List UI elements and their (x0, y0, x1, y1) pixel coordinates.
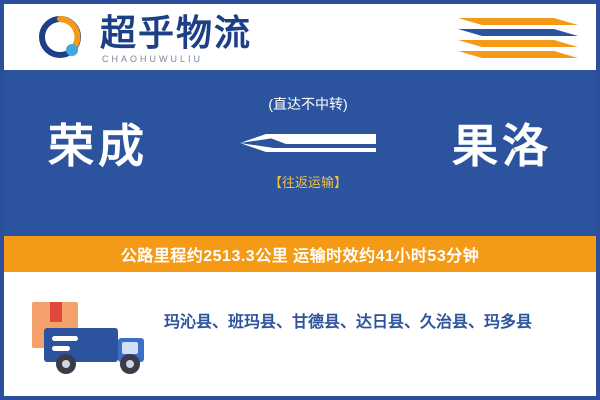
roundtrip-note: 【往返运输】 (240, 174, 376, 192)
circle-q-logo-icon (38, 16, 86, 64)
destination-city: 果洛 (452, 110, 552, 176)
route-middle: (直达不中转) 【往返运输】 (240, 94, 376, 214)
direct-note: (直达不中转) (240, 94, 376, 114)
route-panel: 荣成 (直达不中转) 【往返运输】 果洛 (4, 70, 596, 236)
header: 超乎物流 CHAOHUWULIU (4, 4, 596, 70)
distance-duration-text: 公路里程约2513.3公里 运输时效约41小时53分钟 (121, 242, 479, 266)
logistics-route-card: 超乎物流 CHAOHUWULIU 荣成 (直达不中转) (0, 0, 600, 400)
chevron-stripes-icon (458, 16, 578, 62)
delivery-truck-icon (30, 288, 160, 380)
info-bar: 公路里程约2513.3公里 运输时效约41小时53分钟 (4, 236, 596, 272)
brand-name: 超乎物流 (100, 14, 252, 52)
origin-city: 荣成 (48, 110, 148, 176)
county-list: 玛沁县、班玛县、甘德县、达日县、久治县、玛多县 (164, 312, 584, 334)
coverage-panel: 玛沁县、班玛县、甘德县、达日县、久治县、玛多县 (4, 272, 596, 396)
double-arrow-icon (240, 124, 376, 168)
brand-pinyin: CHAOHUWULIU (102, 54, 203, 64)
